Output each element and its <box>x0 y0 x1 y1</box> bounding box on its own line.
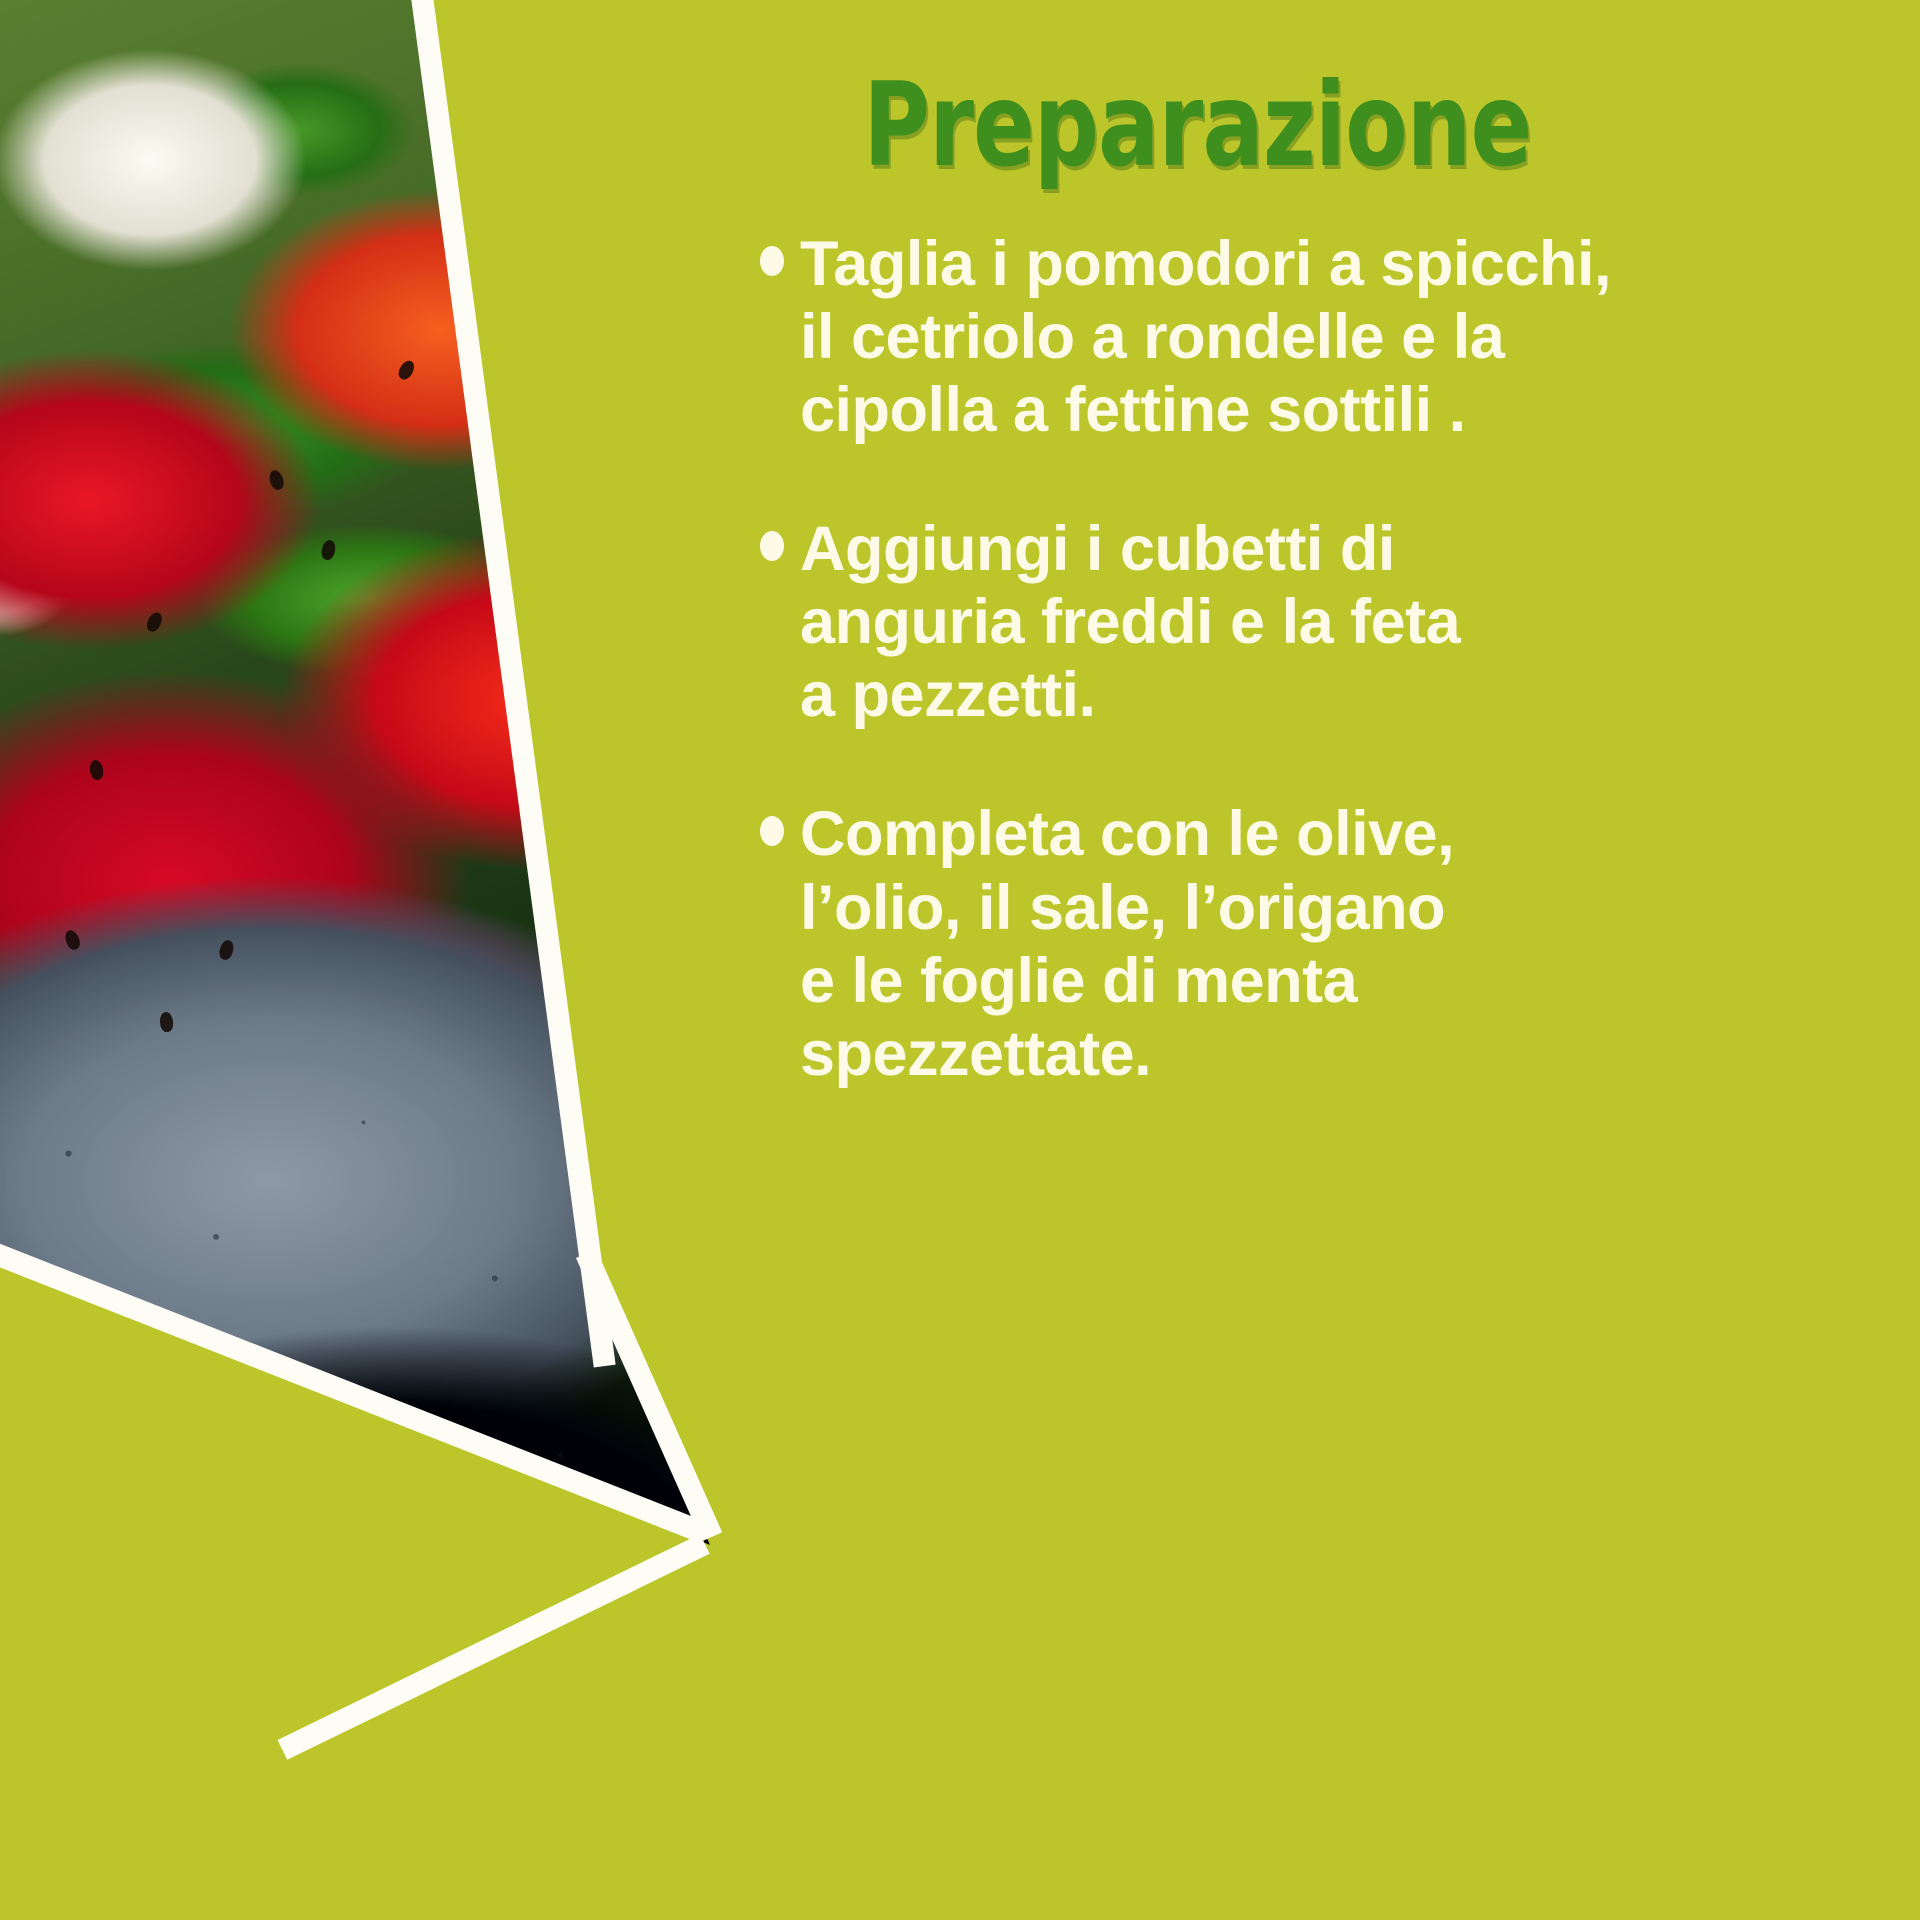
step-text: Aggiungi i cubetti di anguria freddi e l… <box>800 513 1630 732</box>
preparation-steps-list: Taglia i pomodori a spicchi, il cetriolo… <box>760 228 1920 1091</box>
page-title: Preparazione <box>863 68 1516 184</box>
recipe-photo <box>0 0 760 1920</box>
preparation-step-1: Taglia i pomodori a spicchi, il cetriolo… <box>760 228 1920 447</box>
bullet-icon <box>760 246 784 276</box>
diagonal-divider-bottom-right <box>278 1534 710 1760</box>
preparation-step-3: Completa con le olive, l’olio, il sale, … <box>760 798 1920 1090</box>
step-text: Taglia i pomodori a spicchi, il cetriolo… <box>800 228 1630 447</box>
step-text: Completa con le olive, l’olio, il sale, … <box>800 798 1630 1090</box>
preparation-panel: Preparazione Taglia i pomodori a spicchi… <box>760 0 1920 1920</box>
preparation-step-2: Aggiungi i cubetti di anguria freddi e l… <box>760 513 1920 732</box>
salad-photo-image <box>0 0 760 1920</box>
poster-canvas: Preparazione Taglia i pomodori a spicchi… <box>0 0 1920 1920</box>
bullet-icon <box>760 816 784 846</box>
bullet-icon <box>760 531 784 561</box>
